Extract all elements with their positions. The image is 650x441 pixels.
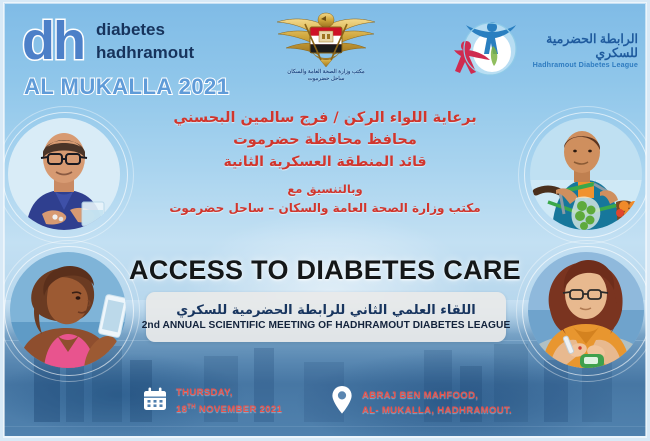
dh-brand-words: diabetes hadhramout — [96, 18, 194, 64]
event-venue-item: ABRAJ BEN MAHFOOD, AL- MUKALLA, HADHRAMO… — [330, 385, 512, 420]
brand-city-year: AL MUKALLA 2021 — [24, 74, 230, 100]
subtitle-english: 2nd ANNUAL SCIENTIFIC MEETING OF HADHRAM… — [142, 319, 511, 333]
ministry-of-health-logo: مكتب وزارة الصحة العامة والسكان ساحل حضر… — [262, 10, 390, 92]
calendar-icon — [142, 386, 168, 417]
patronage-line-3: قائد المنطقة العسكرية الثانية — [150, 151, 500, 173]
brand-word-diabetes: diabetes — [96, 18, 194, 41]
poster-canvas: dh diabetes hadhramout AL MUKALLA 2021 — [0, 0, 650, 441]
photo-man-with-bicycle-groceries — [530, 118, 642, 230]
dh-monogram: dh — [22, 14, 84, 68]
league-emblem-icon — [452, 16, 524, 80]
dh-brand-logo: dh diabetes hadhramout AL MUKALLA 2021 — [18, 8, 248, 96]
league-name-arabic: الرابطة الحضرمية للسكري — [526, 32, 638, 60]
poster-edge-top — [0, 0, 650, 3]
photo-man-taking-medication — [8, 118, 120, 230]
poster-edge-right — [646, 0, 650, 441]
subtitle-band: اللقاء العلمي الثاني للرابطة الحضرمية لل… — [146, 292, 506, 342]
patronage-line-5: مكتب وزارة الصحة العامة والسكان – ساحل ح… — [150, 199, 500, 218]
patronage-line-2: محافظ محافظة حضرموت — [150, 129, 500, 151]
patronage-line-1: برعاية اللواء الركن / فرج سالمين البحسني — [150, 108, 500, 129]
ministry-caption-line2: ساحل حضرموت — [262, 76, 390, 83]
brand-word-hadhramout: hadhramout — [96, 41, 194, 64]
league-name-english: Hadhramout Diabetes League — [526, 60, 638, 70]
event-date-text: THURSDAY, 18TH NOVEMBER 2021 — [176, 385, 282, 417]
poster-header: dh diabetes hadhramout AL MUKALLA 2021 — [0, 0, 650, 100]
patronage-line-4: وبالتنسيق مع — [150, 179, 500, 199]
event-date-item: THURSDAY, 18TH NOVEMBER 2021 — [142, 385, 282, 417]
event-venue-line1: ABRAJ BEN MAHFOOD, — [362, 388, 512, 403]
event-date-line2: 18TH NOVEMBER 2021 — [176, 400, 282, 417]
ministry-caption-line1: مكتب وزارة الصحة العامة والسكان — [262, 69, 390, 76]
league-logo-group: الرابطة الحضرمية للسكري Hadhramout Diabe… — [452, 16, 638, 88]
page-title: ACCESS TO DIABETES CARE — [0, 255, 650, 286]
patronage-block: برعاية اللواء الركن / فرج سالمين البحسني… — [150, 108, 500, 218]
poster-edge-bottom — [0, 436, 650, 441]
event-venue-text: ABRAJ BEN MAHFOOD, AL- MUKALLA, HADHRAMO… — [362, 388, 512, 418]
poster-edge-left — [0, 0, 4, 441]
event-venue-line2: AL- MUKALLA, HADHRAMOUT. — [362, 403, 512, 418]
event-info-row: THURSDAY, 18TH NOVEMBER 2021 ABRAJ BEN M… — [0, 383, 650, 429]
subtitle-arabic: اللقاء العلمي الثاني للرابطة الحضرمية لل… — [176, 302, 476, 319]
event-date-line1: THURSDAY, — [176, 385, 282, 400]
location-pin-icon — [330, 385, 354, 420]
yemen-eagle-emblem-icon — [271, 10, 381, 68]
